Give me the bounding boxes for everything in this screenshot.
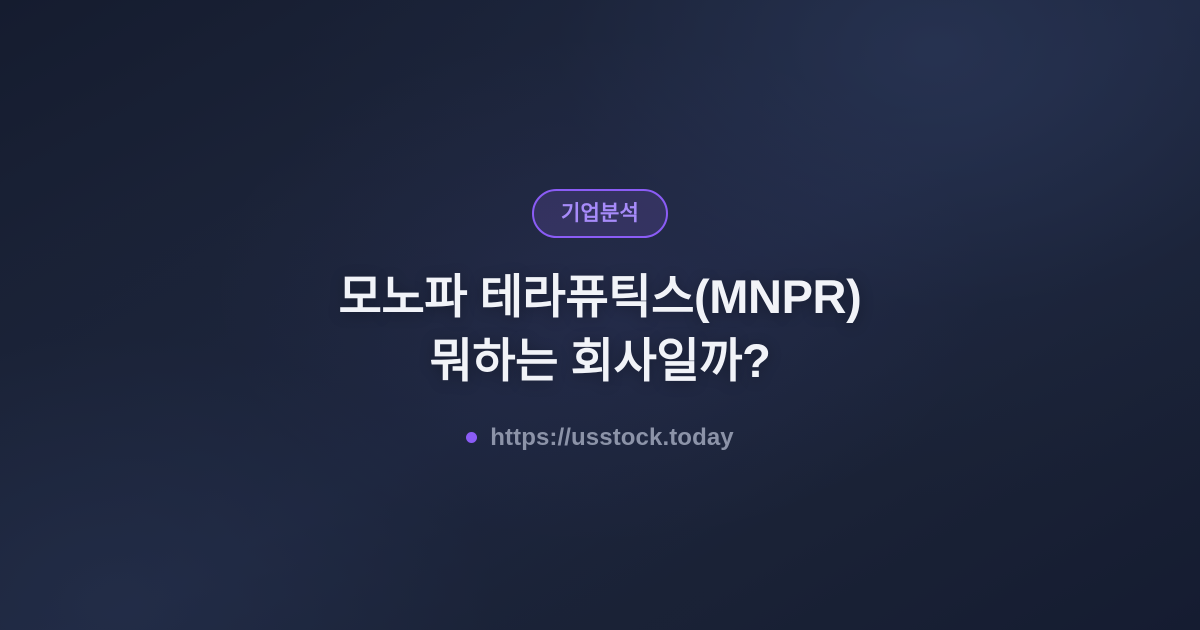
page-title-line-2: 뭐하는 회사일까? [339,329,862,393]
page-title-line-1: 모노파 테라퓨틱스(MNPR) [339,265,862,329]
dot-bullet-icon [466,432,477,443]
site-url-row: https://usstock.today [466,426,733,450]
page-title: 모노파 테라퓨틱스(MNPR) 뭐하는 회사일까? [339,265,862,393]
card-content: 기업분석 모노파 테라퓨틱스(MNPR) 뭐하는 회사일까? https://u… [0,0,1200,450]
category-badge: 기업분석 [532,189,668,238]
og-share-card: 기업분석 모노파 테라퓨틱스(MNPR) 뭐하는 회사일까? https://u… [0,0,1200,630]
site-url-label: https://usstock.today [490,426,733,450]
